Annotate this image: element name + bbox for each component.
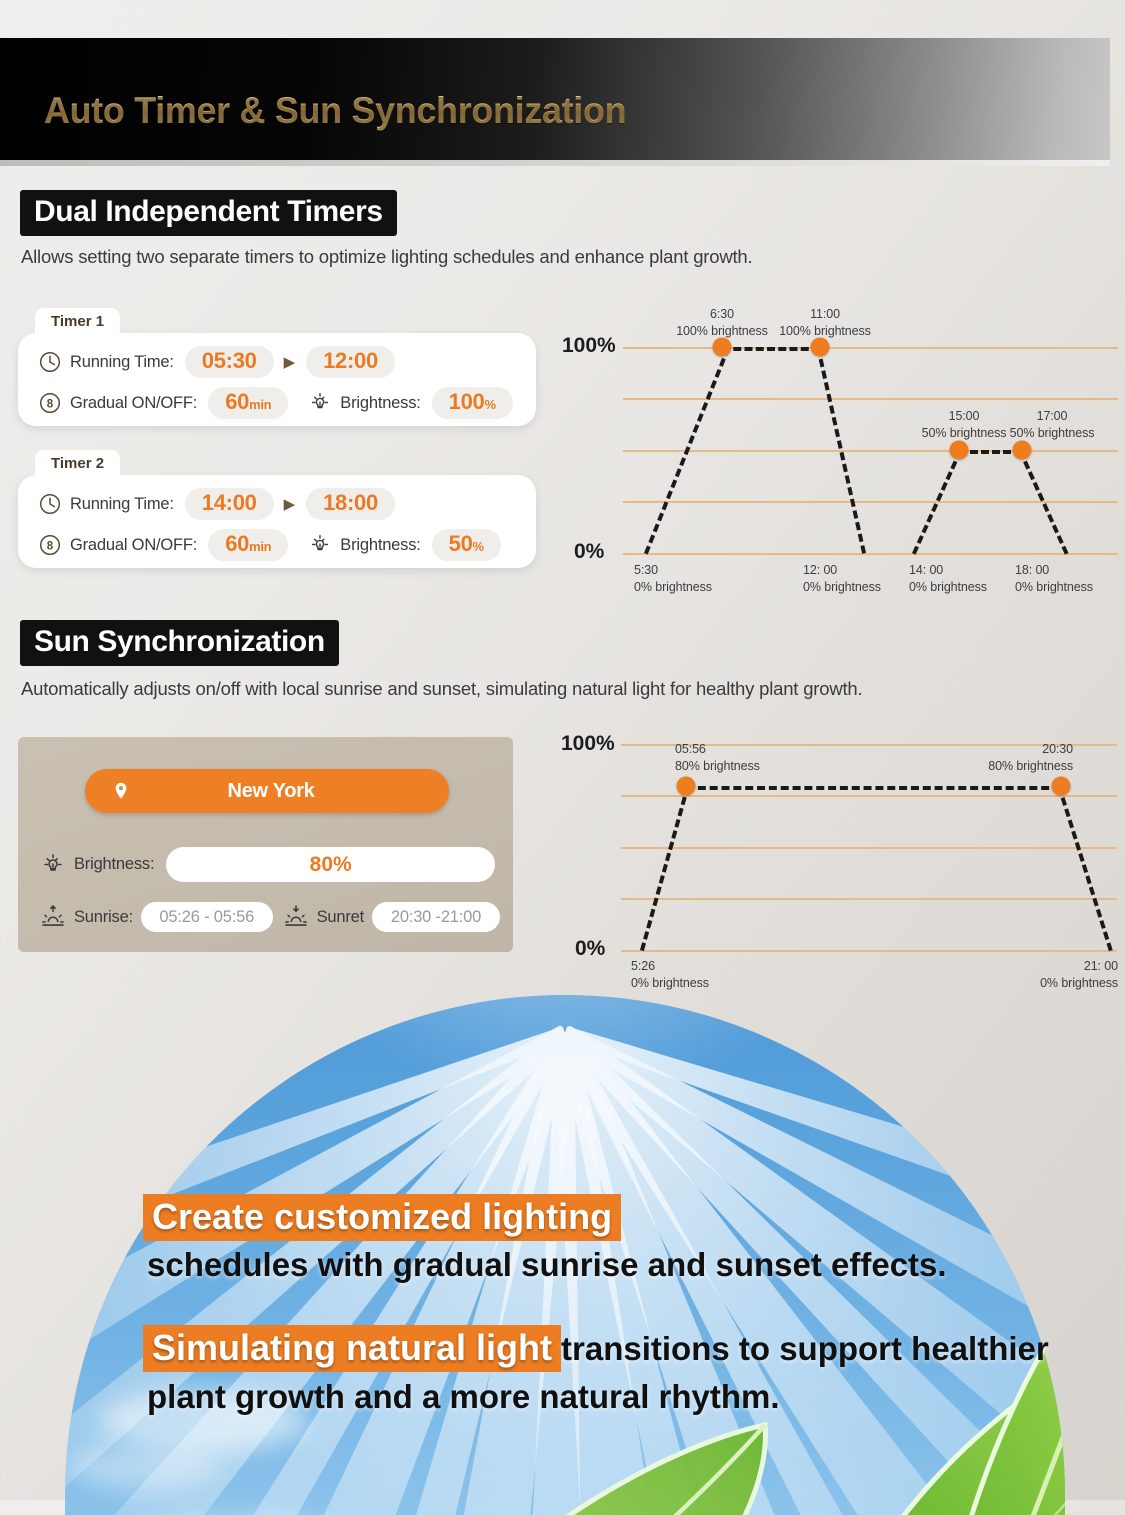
section-heading-dual-timers: Dual Independent Timers — [20, 190, 397, 236]
overlay-text-4: plant growth and a more natural rhythm. — [147, 1378, 780, 1415]
clock-icon — [38, 492, 62, 516]
timer-2-running-row: Running Time: 14:00 ▶ 18:00 — [38, 487, 395, 521]
timer-2-card: Running Time: 14:00 ▶ 18:00 8 Gradual ON… — [18, 475, 536, 568]
overlay-line-3: Simulating natural lighttransitions to s… — [143, 1327, 1049, 1369]
timer-2-brightness-label: Brightness: — [340, 536, 420, 555]
timer-1-brightness-label: Brightness: — [340, 394, 420, 413]
timer-1-gradual-label: Gradual ON/OFF: — [70, 394, 197, 413]
chart2-label-0556-value: 80% brightness — [675, 758, 760, 775]
chart1-label-1500-value: 50% brightness — [922, 425, 1007, 442]
location-pin-icon — [111, 781, 131, 801]
timer-2-running-label: Running Time: — [70, 495, 174, 514]
chart2-baseline-2100-value: 0% brightness — [973, 975, 1118, 992]
timer-2-gradual-unit: min — [249, 539, 271, 554]
chart2-label-0556: 05:56 80% brightness — [675, 741, 760, 774]
chart1-label-630-time: 6:30 — [676, 306, 768, 323]
timer-2-end-time[interactable]: 18:00 — [306, 488, 395, 520]
chart1-y-bottom-label: 0% — [574, 540, 604, 564]
chart1-label-1700-value: 50% brightness — [1010, 425, 1095, 442]
chart2-gridline-50 — [621, 847, 1117, 849]
page-title: Auto Timer & Sun Synchronization — [44, 90, 626, 132]
svg-text:8: 8 — [47, 399, 54, 411]
sunset-value[interactable]: 20:30 -21:00 — [372, 902, 500, 932]
timer-2-tab: Timer 2 — [35, 450, 120, 478]
overlay-line-4: plant growth and a more natural rhythm. — [147, 1378, 780, 1416]
page-header: Auto Timer & Sun Synchronization — [0, 30, 1125, 163]
chart2-label-2030: 20:30 80% brightness — [921, 741, 1073, 774]
chart1-marker-630 — [713, 338, 732, 357]
sunrise-icon — [40, 904, 66, 930]
sun-brightness-row: Brightness: 80% — [40, 847, 495, 882]
chart1-gridline-100 — [623, 347, 1118, 349]
sunrise-sunset-row: Sunrise: 05:26 - 05:56 Sunret 20:30 -21:… — [40, 902, 500, 932]
chart2-marker-0556 — [677, 777, 696, 796]
sunset-icon — [283, 904, 309, 930]
timer-1-brightness-value[interactable]: 100% — [432, 387, 513, 419]
timer-2-block: Timer 2 Running Time: 14:00 ▶ 18:00 8 Gr… — [18, 450, 536, 570]
timer-2-brightness-number: 50 — [449, 531, 473, 556]
sunset-label: Sunret — [317, 908, 364, 927]
chart2-label-2030-value: 80% brightness — [921, 758, 1073, 775]
timer-1-end-time[interactable]: 12:00 — [306, 346, 395, 378]
chart1-segment-hold-1 — [722, 347, 820, 351]
chart1-label-1700: 17:00 50% brightness — [1010, 408, 1095, 441]
chart2-baseline-0526: 5:26 0% brightness — [631, 958, 709, 991]
chart2-baseline-2100-time: 21: 00 — [973, 958, 1118, 975]
timer-1-tab: Timer 1 — [35, 308, 120, 336]
chart2-gridline-75 — [621, 795, 1117, 797]
chart2-segment-fall — [1057, 786, 1113, 951]
chart1-baseline-1200: 12: 00 0% brightness — [803, 562, 881, 595]
chart2-baseline-2100: 21: 00 0% brightness — [973, 958, 1118, 991]
chart2-gridline-0 — [621, 950, 1117, 952]
chart1-marker-1700 — [1013, 441, 1032, 460]
timer-1-gradual-number: 60 — [225, 389, 249, 414]
chart2-label-0556-time: 05:56 — [675, 741, 760, 758]
city-name-label: New York — [131, 780, 411, 803]
section-heading-sun-sync: Sun Synchronization — [20, 620, 339, 666]
chart2-segment-hold — [686, 786, 1061, 790]
timer-2-gradual-label: Gradual ON/OFF: — [70, 536, 197, 555]
chart1-baseline-1400: 14: 00 0% brightness — [909, 562, 987, 595]
chart2-marker-2030 — [1052, 777, 1071, 796]
chart2-gridline-25 — [621, 898, 1117, 900]
chart1-baseline-1800-time: 18: 00 — [1015, 562, 1093, 579]
overlay-line-2: schedules with gradual sunrise and sunse… — [147, 1246, 947, 1284]
brightness-bulb-icon — [40, 852, 66, 878]
chart1-label-1100: 11:00 100% brightness — [779, 306, 871, 339]
sun-brightness-value[interactable]: 80% — [166, 847, 495, 882]
chart2-y-bottom-label: 0% — [575, 937, 605, 961]
gradual-onoff-icon: 8 — [38, 533, 62, 557]
chart1-baseline-1800: 18: 00 0% brightness — [1015, 562, 1093, 595]
chart1-marker-1500 — [950, 441, 969, 460]
timer-1-running-row: Running Time: 05:30 ▶ 12:00 — [38, 345, 395, 379]
sun-brightness-label: Brightness: — [74, 855, 154, 874]
arrow-right-icon: ▶ — [284, 495, 296, 513]
chart1-gridline-75 — [623, 398, 1118, 400]
chart1-baseline-1800-value: 0% brightness — [1015, 579, 1093, 596]
timer-schedule-chart: 100% 0% 6:30 100% brightness 11:00 100% … — [560, 300, 1125, 595]
clock-icon — [38, 350, 62, 374]
chart1-marker-1100 — [811, 338, 830, 357]
chart1-label-630-value: 100% brightness — [676, 323, 768, 340]
timer-1-gradual-row: 8 Gradual ON/OFF: 60min Brightness: 100% — [38, 386, 513, 420]
chart1-baseline-1400-time: 14: 00 — [909, 562, 987, 579]
section-subtitle-sun-sync: Automatically adjusts on/off with local … — [21, 678, 862, 700]
chart1-baseline-1400-value: 0% brightness — [909, 579, 987, 596]
chart1-baseline-530-time: 5:30 — [634, 562, 712, 579]
timer-2-brightness-unit: % — [473, 539, 484, 554]
infographic-page: Auto Timer & Sun Synchronization Dual In… — [0, 0, 1125, 1500]
chart1-gridline-50 — [623, 450, 1118, 452]
chart2-baseline-0526-time: 5:26 — [631, 958, 709, 975]
chart1-baseline-1200-time: 12: 00 — [803, 562, 881, 579]
chart2-y-top-label: 100% — [561, 732, 615, 756]
city-selector-button[interactable]: New York — [85, 769, 449, 813]
cloud-shape — [71, 1445, 221, 1489]
overlay-highlight-3: Simulating natural light — [143, 1325, 561, 1372]
chart1-label-1700-time: 17:00 — [1010, 408, 1095, 425]
timer-2-gradual-value[interactable]: 60min — [208, 529, 288, 561]
chart1-gridline-0 — [623, 553, 1118, 555]
timer-2-brightness-value[interactable]: 50% — [432, 529, 501, 561]
chart1-label-1100-time: 11:00 — [779, 306, 871, 323]
chart1-baseline-1200-value: 0% brightness — [803, 579, 881, 596]
timer-2-gradual-row: 8 Gradual ON/OFF: 60min Brightness: 50% — [38, 528, 501, 562]
sun-sync-settings-card: New York Brightness: 80% Sunrise: 05:26 … — [18, 737, 513, 952]
timer-1-gradual-unit: min — [249, 397, 271, 412]
timer-2-gradual-number: 60 — [225, 531, 249, 556]
chart2-baseline-0526-value: 0% brightness — [631, 975, 709, 992]
chart2-label-2030-time: 20:30 — [921, 741, 1073, 758]
chart1-label-1500-time: 15:00 — [922, 408, 1007, 425]
brightness-bulb-icon — [308, 533, 332, 557]
overlay-text-3-tail: transitions to support healthier — [561, 1330, 1049, 1367]
chart1-baseline-530: 5:30 0% brightness — [634, 562, 712, 595]
chart1-label-1500: 15:00 50% brightness — [922, 408, 1007, 441]
timer-1-start-time[interactable]: 05:30 — [185, 346, 274, 378]
chart1-label-630: 6:30 100% brightness — [676, 306, 768, 339]
sunrise-value[interactable]: 05:26 - 05:56 — [141, 902, 273, 932]
timer-1-block: Timer 1 Running Time: 05:30 ▶ 12:00 8 Gr… — [18, 308, 536, 428]
section-subtitle-dual-timers: Allows setting two separate timers to op… — [21, 246, 752, 268]
chart1-y-top-label: 100% — [562, 334, 616, 358]
timer-1-brightness-number: 100 — [449, 389, 485, 414]
timer-1-running-label: Running Time: — [70, 353, 174, 372]
sunrise-label: Sunrise: — [74, 908, 133, 927]
chart2-segment-rise — [640, 785, 690, 951]
overlay-line-1: Create customized lighting — [143, 1196, 621, 1238]
svg-text:8: 8 — [47, 541, 54, 553]
gradual-onoff-icon: 8 — [38, 391, 62, 415]
overlay-text-2: schedules with gradual sunrise and sunse… — [147, 1246, 947, 1283]
chart1-baseline-530-value: 0% brightness — [634, 579, 712, 596]
overlay-highlight-1: Create customized lighting — [143, 1194, 621, 1241]
timer-1-card: Running Time: 05:30 ▶ 12:00 8 Gradual ON… — [18, 333, 536, 426]
arrow-right-icon: ▶ — [284, 353, 296, 371]
brightness-bulb-icon — [308, 391, 332, 415]
chart1-label-1100-value: 100% brightness — [779, 323, 871, 340]
timer-1-brightness-unit: % — [484, 397, 495, 412]
timer-2-start-time[interactable]: 14:00 — [185, 488, 274, 520]
timer-1-gradual-value[interactable]: 60min — [208, 387, 288, 419]
sun-sync-chart: 100% 0% 05:56 80% brightness 20:30 80% b… — [555, 728, 1125, 993]
